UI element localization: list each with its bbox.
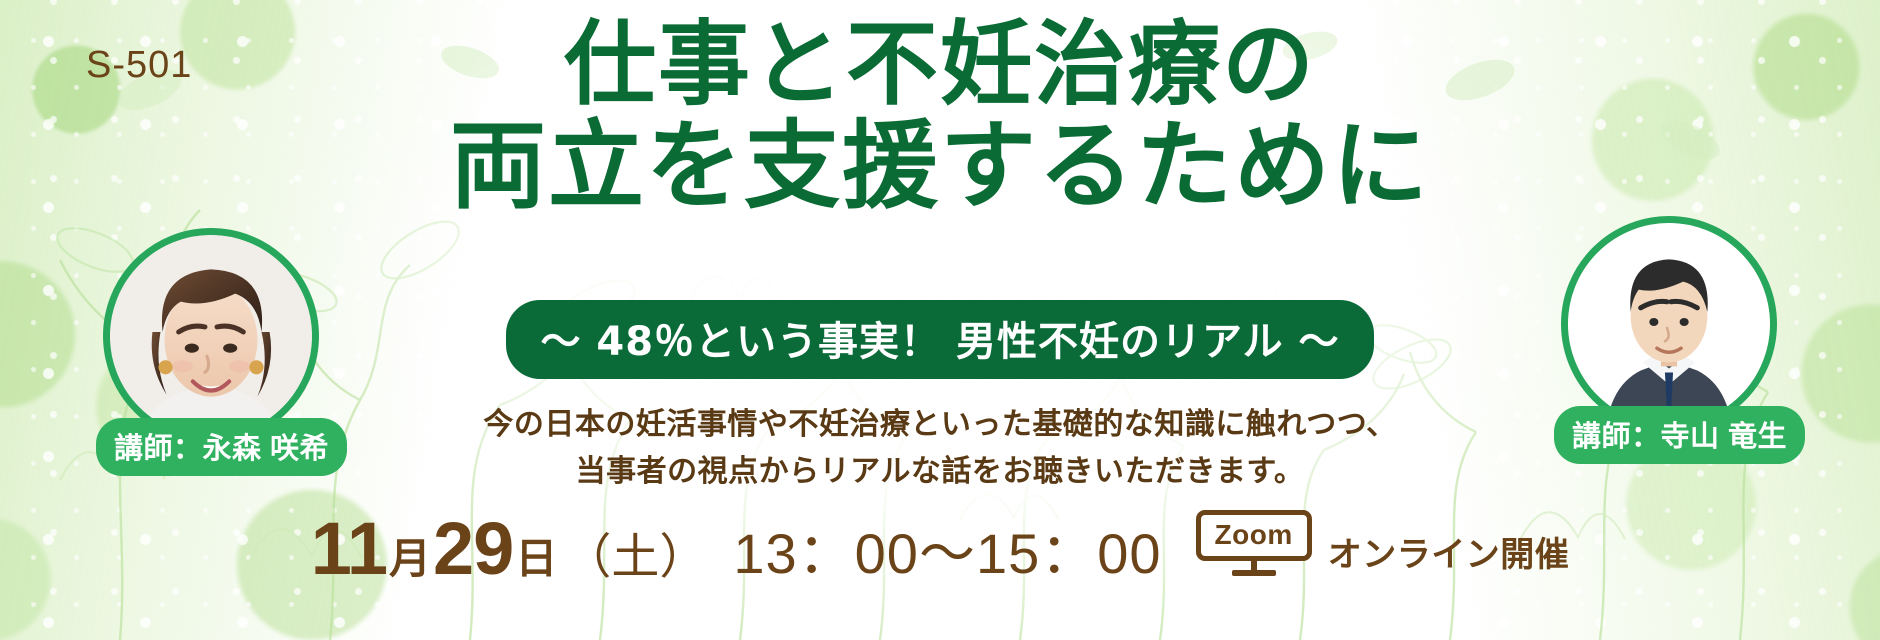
portrait-photo-woman-icon: [110, 235, 312, 437]
zoom-monitor-icon: Zoom: [1196, 510, 1312, 575]
speaker-right-badge: 講師：寺山 竜生: [1554, 406, 1805, 464]
portrait-illustration-man-icon: [1568, 223, 1770, 425]
speaker-left-badge: 講師：永森 咲希: [96, 418, 347, 476]
zoom-platform-label: Zoom: [1196, 510, 1312, 560]
zoom-stand-icon: [1251, 561, 1257, 570]
delivery-mode-label: オンライン開催: [1328, 527, 1570, 576]
speaker-right: 講師：寺山 竜生: [1554, 216, 1784, 464]
session-code: S-501: [86, 44, 192, 87]
avatar: [103, 228, 319, 444]
event-month-unit: 月: [389, 538, 431, 580]
subtitle-pill: 〜 48％という事実！ 男性不妊のリアル 〜: [506, 300, 1373, 379]
event-time-range: 13：00〜15：00: [733, 526, 1161, 582]
event-day-unit: 日: [515, 538, 557, 580]
avatar: [1561, 216, 1777, 432]
speaker-left: 講師：永森 咲希: [96, 228, 326, 476]
event-month-number: 11: [311, 512, 387, 586]
event-weekday: （土）: [563, 534, 707, 582]
event-day-number: 29: [433, 512, 513, 586]
zoom-foot-icon: [1232, 570, 1276, 576]
seminar-banner: S-501 仕事と不妊治療の 両立を支援するために 〜 48％という事実！ 男性…: [0, 0, 1880, 640]
schedule-row: 11 月 29 日 （土） 13：00〜15：00 Zoom オンライン開催: [0, 512, 1880, 586]
